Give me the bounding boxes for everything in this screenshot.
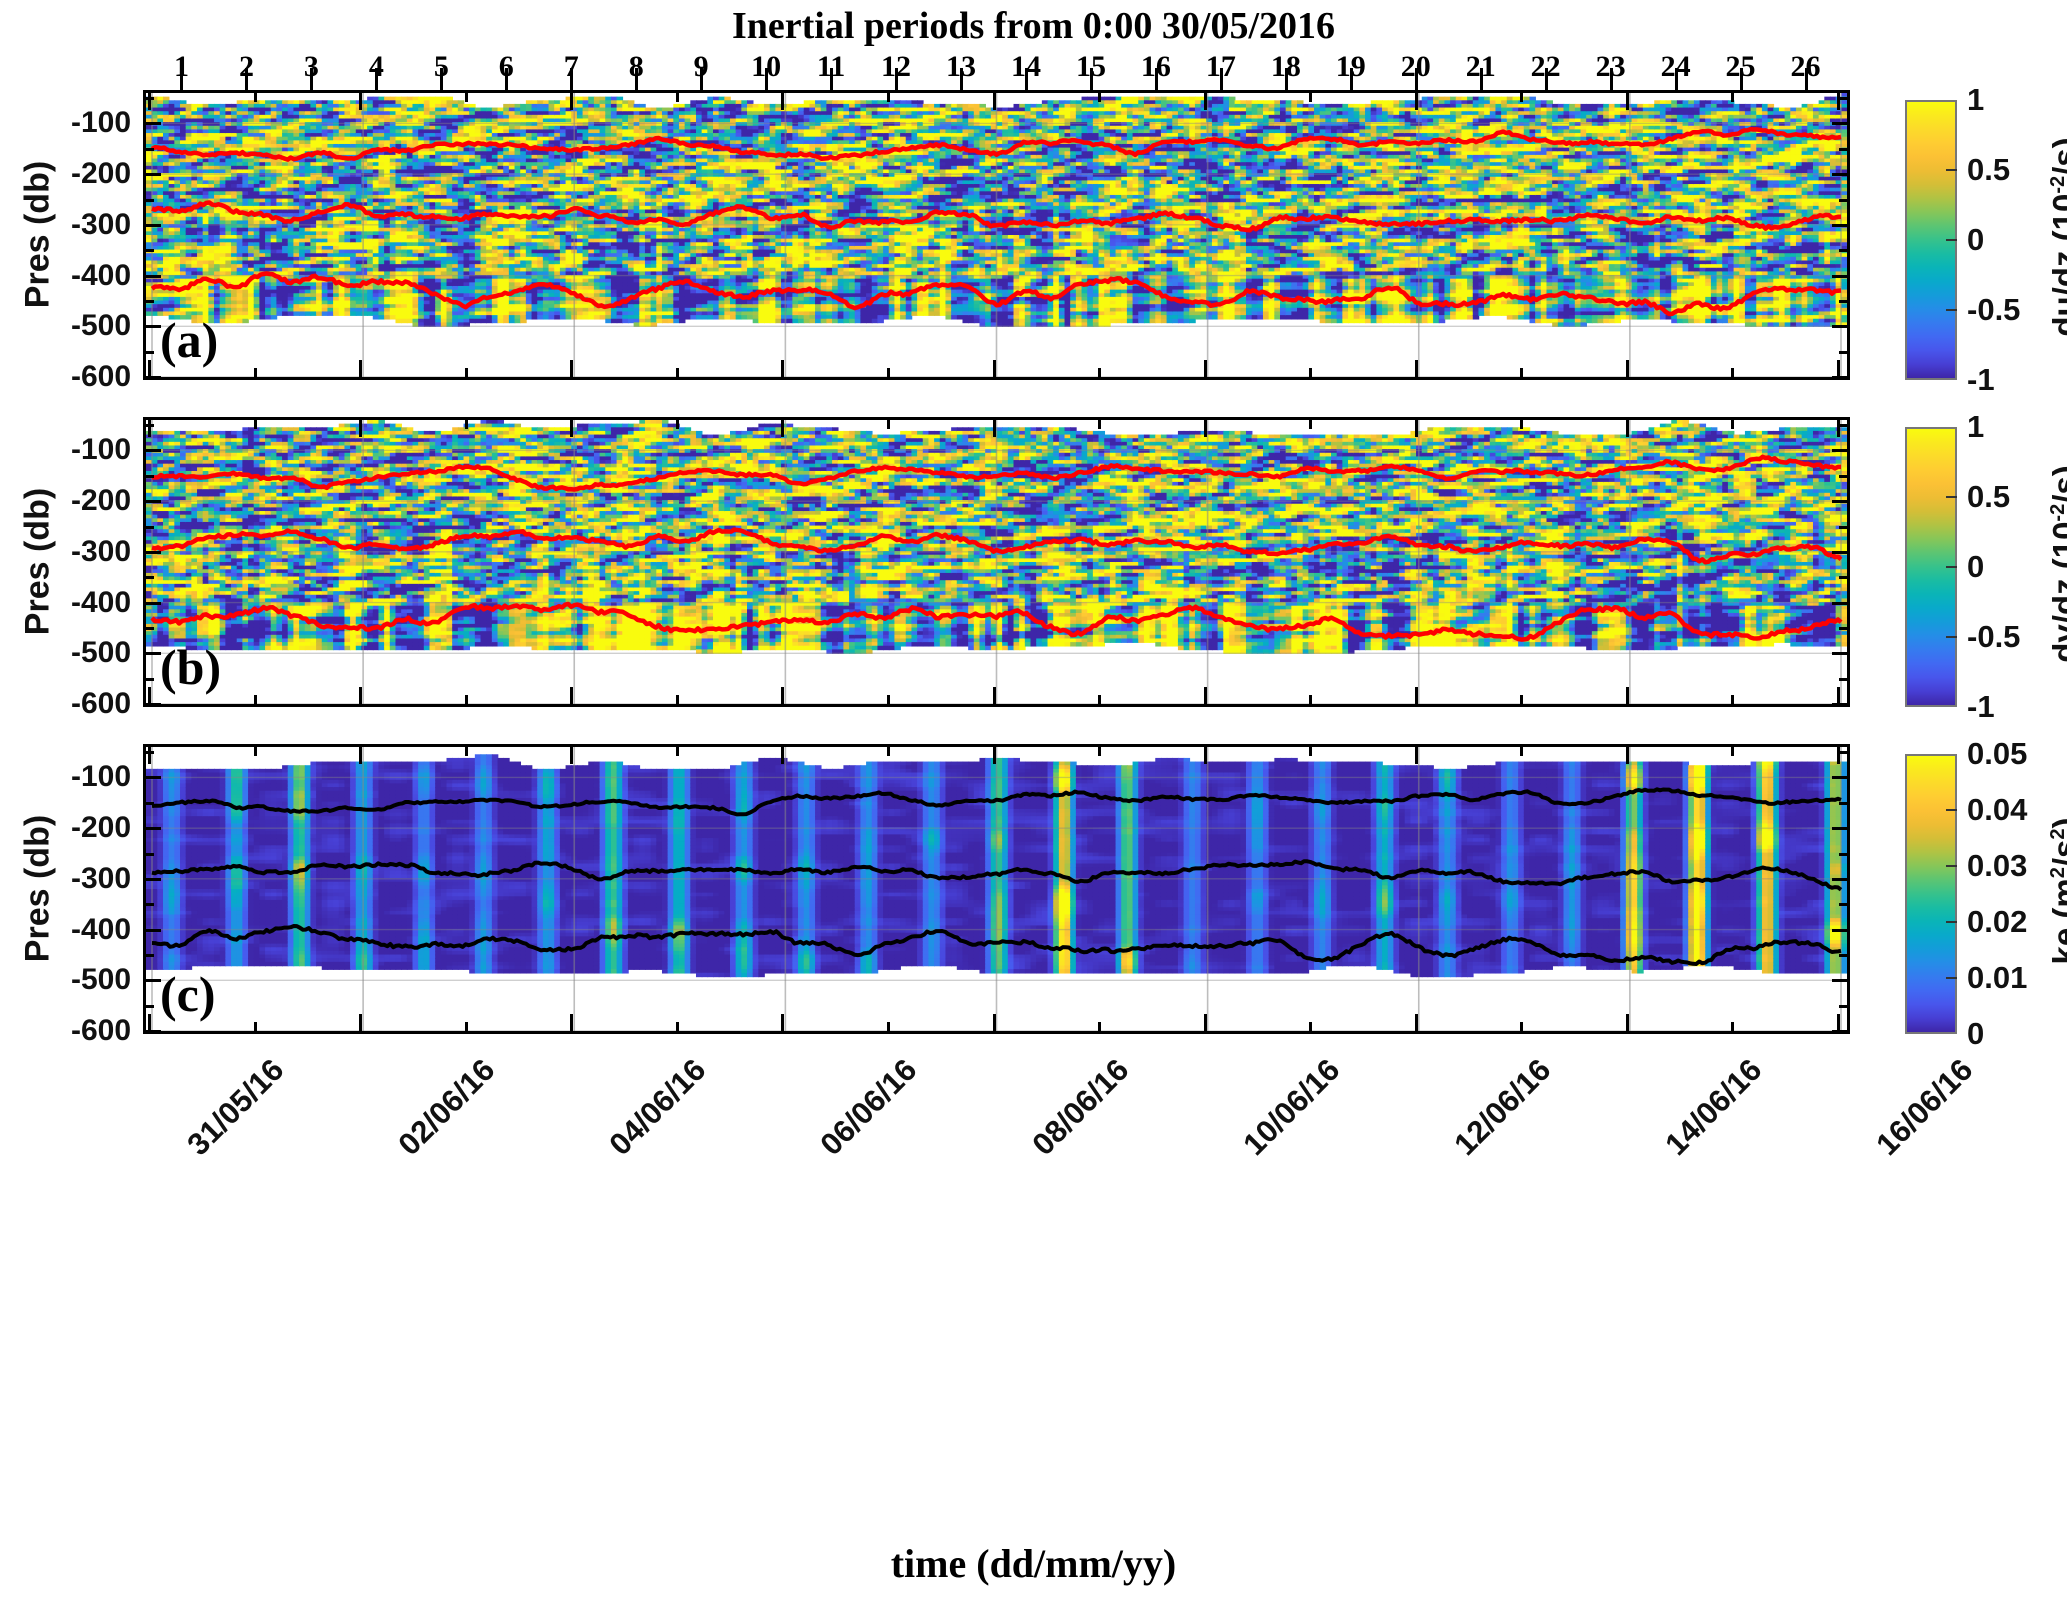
- top-axis-tickmark-22: [1545, 68, 1548, 90]
- top-axis-tickmark-25: [1740, 68, 1743, 90]
- panel-a-xtickmark-bottom-6: [1415, 360, 1418, 380]
- panel-a-ytickmark-r-500: [1832, 325, 1850, 328]
- top-axis-tickmark-13: [960, 68, 963, 90]
- panel-c-xtickmark-top-6: [1415, 744, 1418, 764]
- panel-b-y-axis-title: Pres (db): [19, 417, 58, 707]
- top-axis-tickmark-24: [1675, 68, 1678, 90]
- panel-c-xtickmark-top-5: [1204, 744, 1207, 764]
- panel-a-xminortick-top-0: [254, 90, 257, 102]
- colorbar-0-tickmark-3: [1946, 309, 1957, 311]
- panel-b-xtickmark-bottom-8: [1837, 687, 1840, 707]
- panel-c-xminortick-bottom-3: [887, 1022, 890, 1034]
- panel-c-ytickmark-l-500: [143, 979, 161, 982]
- panel-b-xminortick-top-2: [676, 417, 679, 429]
- panel-a-letter: (a): [160, 311, 218, 369]
- panel-a-yminortick-r: [1839, 300, 1850, 303]
- panel-c-ytickmark-l-300: [143, 878, 161, 881]
- panel-c-yminortick-l: [143, 1005, 154, 1008]
- panel-c-yminortick-l: [143, 903, 154, 906]
- top-axis-tickmark-3: [310, 68, 313, 90]
- panel-a-ytick-label-100: -100: [71, 106, 131, 140]
- colorbar-2-tick-label-3: 0.02: [1967, 904, 2027, 940]
- top-axis-tickmark-2: [245, 68, 248, 90]
- colorbar-0-tickmark-1: [1946, 169, 1957, 171]
- panel-a-xtickmark-bottom-4: [993, 360, 996, 380]
- panel-b-xtickmark-top-4: [993, 417, 996, 437]
- panel-a-xminortick-bottom-0: [254, 368, 257, 380]
- panel-a-ytick-label-400: -400: [71, 259, 131, 293]
- panel-a-ytickmark-l-600: [143, 376, 161, 379]
- top-axis-tickmark-23: [1610, 68, 1613, 90]
- colorbar-2-tickmark-1: [1946, 809, 1957, 811]
- panel-b-xminortick-top-7: [1731, 417, 1734, 429]
- colorbar-0-tick-label-4: -1: [1967, 362, 1995, 398]
- panel-b-yminortick-r: [1839, 475, 1850, 478]
- panel-b-ytickmark-l-300: [143, 551, 161, 554]
- panel-c-xtickmark-top-0: [148, 744, 151, 764]
- panel-c-xminortick-bottom-4: [1098, 1022, 1101, 1034]
- panel-b-xminortick-top-6: [1520, 417, 1523, 429]
- colorbar-2-tick-label-5: 0: [1967, 1016, 1984, 1052]
- panel-c-xminortick-top-3: [887, 744, 890, 756]
- panel-c-ytick-label-300: -300: [71, 862, 131, 896]
- panel-a-du-dz: (a): [143, 90, 1850, 380]
- panel-b-xtickmark-bottom-3: [781, 687, 784, 707]
- panel-a-ytick-label-300: -300: [71, 208, 131, 242]
- panel-c-ytick-label-200: -200: [71, 811, 131, 845]
- colorbar-ke: [1905, 754, 1957, 1034]
- colorbar-0-tick-label-1: 0.5: [1967, 152, 2010, 188]
- panel-b-xminortick-top-5: [1309, 417, 1312, 429]
- panel-a-xtickmark-bottom-5: [1204, 360, 1207, 380]
- panel-a-xtickmark-top-5: [1204, 90, 1207, 110]
- panel-a-xtickmark-top-3: [781, 90, 784, 110]
- panel-b-yminortick-l: [143, 627, 154, 630]
- panel-a-ytickmark-l-100: [143, 122, 161, 125]
- panel-a-yminortick-r: [1839, 199, 1850, 202]
- panel-c-ytickmark-r-500: [1832, 979, 1850, 982]
- panel-b-yminortick-r: [1839, 424, 1850, 427]
- panel-b-xtickmark-top-1: [359, 417, 362, 437]
- top-axis-tickmark-26: [1805, 68, 1808, 90]
- panel-b-xminortick-bottom-4: [1098, 695, 1101, 707]
- panel-b-xminortick-bottom-2: [676, 695, 679, 707]
- x-axis-date-label-6: 12/06/16: [1447, 1052, 1558, 1163]
- panel-a-field: [146, 93, 1847, 377]
- panel-b-ytick-label-200: -200: [71, 484, 131, 518]
- panel-c-xtickmark-bottom-4: [993, 1014, 996, 1034]
- cbar-title-exp: 2: [2047, 867, 2067, 878]
- panel-a-ytickmark-r-200: [1832, 173, 1850, 176]
- panel-a-xminortick-bottom-4: [1098, 368, 1101, 380]
- panel-c-ytickmark-r-400: [1832, 929, 1850, 932]
- x-axis-date-label-7: 14/06/16: [1658, 1052, 1769, 1163]
- panel-a-ytickmark-l-500: [143, 325, 161, 328]
- panel-c-xtickmark-top-7: [1626, 744, 1629, 764]
- panel-b-xminortick-bottom-6: [1520, 695, 1523, 707]
- cbar-title-text2: /s): [2046, 137, 2067, 176]
- panel-c-xtickmark-bottom-5: [1204, 1014, 1207, 1034]
- colorbar-2-tick-label-2: 0.03: [1967, 848, 2027, 884]
- colorbar-0-tickmark-2: [1946, 239, 1957, 241]
- panel-b-xtickmark-top-2: [570, 417, 573, 437]
- panel-b-xtickmark-bottom-5: [1204, 687, 1207, 707]
- panel-b-xminortick-bottom-3: [887, 695, 890, 707]
- panel-b-ytickmark-r-100: [1832, 449, 1850, 452]
- colorbar-1-tick-label-3: -0.5: [1967, 619, 2020, 655]
- colorbar-1-tick-label-1: 0.5: [1967, 479, 2010, 515]
- panel-c-ytick-label-500: -500: [71, 963, 131, 997]
- x-axis-date-label-1: 02/06/16: [391, 1052, 502, 1163]
- panel-b-xtickmark-top-5: [1204, 417, 1207, 437]
- panel-b-xtickmark-bottom-7: [1626, 687, 1629, 707]
- panel-a-ytickmark-l-200: [143, 173, 161, 176]
- cbar-title-exp: -2: [2047, 176, 2067, 194]
- panel-b-letter: (b): [160, 638, 221, 696]
- x-axis-date-label-4: 08/06/16: [1025, 1052, 1136, 1163]
- panel-c-ke: (c): [143, 744, 1850, 1034]
- panel-c-xminortick-bottom-0: [254, 1022, 257, 1034]
- colorbar-0-title: du/dz (10-2/s): [2046, 67, 2067, 407]
- top-axis-tickmark-16: [1155, 68, 1158, 90]
- cbar-title-text: du/dz (10: [2046, 194, 2067, 337]
- x-axis-title: time (dd/mm/yy): [0, 1540, 2067, 1587]
- x-axis-date-label-3: 06/06/16: [814, 1052, 925, 1163]
- panel-c-ytickmark-r-100: [1832, 776, 1850, 779]
- cbar-title-text: dv/dz (10: [2046, 522, 2067, 663]
- cbar-title-exp: -2: [2047, 504, 2067, 522]
- panel-c-yminortick-r: [1839, 1005, 1850, 1008]
- panel-b-yminortick-r: [1839, 678, 1850, 681]
- panel-b-yminortick-l: [143, 475, 154, 478]
- panel-a-xtickmark-top-2: [570, 90, 573, 110]
- colorbar-1-tickmark-3: [1946, 636, 1957, 638]
- panel-b-xtickmark-top-7: [1626, 417, 1629, 437]
- cbar-title-text3: ): [2046, 818, 2067, 829]
- panel-a-xtickmark-bottom-7: [1626, 360, 1629, 380]
- panel-b-xtickmark-bottom-0: [148, 687, 151, 707]
- panel-a-xtickmark-top-0: [148, 90, 151, 110]
- panel-a-xminortick-top-5: [1309, 90, 1312, 102]
- panel-c-yminortick-l: [143, 954, 154, 957]
- panel-b-xtickmark-bottom-2: [570, 687, 573, 707]
- panel-b-plot-area: [146, 420, 1847, 704]
- panel-a-yminortick-l: [143, 351, 154, 354]
- panel-b-xtickmark-bottom-1: [359, 687, 362, 707]
- panel-c-xtickmark-top-1: [359, 744, 362, 764]
- panel-c-xminortick-top-7: [1731, 744, 1734, 756]
- panel-c-xtickmark-top-3: [781, 744, 784, 764]
- panel-b-ytickmark-r-300: [1832, 551, 1850, 554]
- panel-b-xminortick-top-3: [887, 417, 890, 429]
- panel-b-xminortick-top-4: [1098, 417, 1101, 429]
- x-axis-date-label-8: 16/06/16: [1869, 1052, 1980, 1163]
- top-axis-tickmark-20: [1415, 68, 1418, 90]
- panel-a-ytickmark-l-300: [143, 224, 161, 227]
- colorbar-1-tickmark-2: [1946, 566, 1957, 568]
- panel-a-xminortick-bottom-1: [465, 368, 468, 380]
- panel-c-ytickmark-r-200: [1832, 827, 1850, 830]
- panel-a-ytickmark-r-400: [1832, 275, 1850, 278]
- panel-b-xtickmark-top-8: [1837, 417, 1840, 437]
- colorbar-1-title: dv/dz (10-2/s): [2046, 394, 2067, 734]
- panel-b-xtickmark-top-3: [781, 417, 784, 437]
- top-axis-tickmark-14: [1025, 68, 1028, 90]
- panel-a-xtickmark-top-1: [359, 90, 362, 110]
- panel-a-xtickmark-top-8: [1837, 90, 1840, 110]
- panel-a-xtickmark-top-7: [1626, 90, 1629, 110]
- top-axis-tickmark-4: [375, 68, 378, 90]
- panel-b-xtickmark-bottom-4: [993, 687, 996, 707]
- colorbar-0-tick-label-3: -0.5: [1967, 292, 2020, 328]
- top-axis-tickmark-21: [1480, 68, 1483, 90]
- panel-b-ytickmark-l-200: [143, 500, 161, 503]
- panel-a-ytickmark-l-400: [143, 275, 161, 278]
- panel-a-xtickmark-bottom-0: [148, 360, 151, 380]
- panel-b-ytickmark-r-600: [1832, 703, 1850, 706]
- panel-c-xtickmark-top-2: [570, 744, 573, 764]
- panel-c-xminortick-bottom-6: [1520, 1022, 1523, 1034]
- top-axis-tickmark-11: [830, 68, 833, 90]
- panel-c-yminortick-r: [1839, 954, 1850, 957]
- panel-c-letter: (c): [160, 965, 216, 1023]
- panel-b-yminortick-l: [143, 678, 154, 681]
- panel-b-field: [146, 420, 1847, 704]
- cbar-title-text: ke (m: [2046, 878, 2067, 964]
- panel-b-yminortick-l: [143, 526, 154, 529]
- panel-a-yminortick-r: [1839, 249, 1850, 252]
- panel-c-yminortick-r: [1839, 903, 1850, 906]
- panel-a-yminortick-l: [143, 148, 154, 151]
- panel-b-ytickmark-r-400: [1832, 602, 1850, 605]
- panel-a-yminortick-r: [1839, 97, 1850, 100]
- panel-b-xminortick-bottom-0: [254, 695, 257, 707]
- panel-b-ytick-label-400: -400: [71, 586, 131, 620]
- panel-b-xtickmark-bottom-6: [1415, 687, 1418, 707]
- cbar-title-exp2: 2: [2047, 829, 2067, 840]
- panel-a-plot-area: [146, 93, 1847, 377]
- panel-c-xtickmark-bottom-1: [359, 1014, 362, 1034]
- panel-c-xtickmark-top-4: [993, 744, 996, 764]
- colorbar-1-tick-label-2: 0: [1967, 549, 1984, 585]
- cbar-title-text2: /s: [2046, 840, 2067, 868]
- panel-a-yminortick-l: [143, 249, 154, 252]
- top-axis-tickmark-19: [1350, 68, 1353, 90]
- panel-b-xtickmark-top-0: [148, 417, 151, 437]
- top-axis-tickmark-15: [1090, 68, 1093, 90]
- panel-c-y-axis-title: Pres (db): [19, 744, 58, 1034]
- panel-a-xtickmark-bottom-8: [1837, 360, 1840, 380]
- panel-a-yminortick-r: [1839, 351, 1850, 354]
- panel-c-xtickmark-bottom-3: [781, 1014, 784, 1034]
- panel-b-ytick-label-500: -500: [71, 636, 131, 670]
- panel-a-xminortick-bottom-3: [887, 368, 890, 380]
- panel-a-xminortick-top-7: [1731, 90, 1734, 102]
- panel-c-xtickmark-bottom-7: [1626, 1014, 1629, 1034]
- top-axis-tickmark-10: [765, 68, 768, 90]
- panel-c-yminortick-r: [1839, 751, 1850, 754]
- panel-b-ytickmark-l-100: [143, 449, 161, 452]
- panel-b-xtickmark-top-6: [1415, 417, 1418, 437]
- panel-a-yminortick-l: [143, 300, 154, 303]
- panel-c-xminortick-bottom-7: [1731, 1022, 1734, 1034]
- colorbar-1-tickmark-1: [1946, 496, 1957, 498]
- colorbar-1-tick-label-4: -1: [1967, 689, 1995, 725]
- panel-b-ytick-label-100: -100: [71, 433, 131, 467]
- panel-a-xtickmark-top-4: [993, 90, 996, 110]
- top-axis-tickmark-8: [635, 68, 638, 90]
- top-axis-tickmark-12: [895, 68, 898, 90]
- panel-c-xminortick-bottom-2: [676, 1022, 679, 1034]
- cbar-title-text2: /s): [2046, 465, 2067, 504]
- panel-c-plot-area: [146, 747, 1847, 1031]
- colorbar-2-title: ke (m2/s2): [2046, 721, 2067, 1061]
- colorbar-2-tick-label-0: 0.05: [1967, 736, 2027, 772]
- panel-c-ytick-label-100: -100: [71, 760, 131, 794]
- colorbar-0-tick-label-0: 1: [1967, 82, 1984, 118]
- panel-a-ytickmark-r-100: [1832, 122, 1850, 125]
- colorbar-0-tick-label-2: 0: [1967, 222, 1984, 258]
- panel-c-xtickmark-bottom-6: [1415, 1014, 1418, 1034]
- panel-b-ytickmark-l-400: [143, 602, 161, 605]
- panel-c-ytickmark-l-600: [143, 1030, 161, 1033]
- panel-c-ytickmark-r-300: [1832, 878, 1850, 881]
- panel-a-y-axis-title: Pres (db): [19, 90, 58, 380]
- panel-c-yminortick-r: [1839, 853, 1850, 856]
- panel-c-ytickmark-l-200: [143, 827, 161, 830]
- panel-c-ytickmark-l-100: [143, 776, 161, 779]
- top-axis-tickmark-7: [570, 68, 573, 90]
- x-axis-date-label-5: 10/06/16: [1236, 1052, 1347, 1163]
- top-axis-tickmark-9: [700, 68, 703, 90]
- panel-c-ytick-label-600: -600: [71, 1014, 131, 1048]
- panel-c-xminortick-top-1: [465, 744, 468, 756]
- panel-c-yminortick-r: [1839, 802, 1850, 805]
- top-axis-tickmark-6: [505, 68, 508, 90]
- panel-b-xminortick-bottom-5: [1309, 695, 1312, 707]
- top-axis-tickmark-18: [1285, 68, 1288, 90]
- panel-b-ytickmark-l-500: [143, 652, 161, 655]
- panel-a-xtickmark-top-6: [1415, 90, 1418, 110]
- top-axis-tickmark-17: [1220, 68, 1223, 90]
- panel-c-yminortick-l: [143, 853, 154, 856]
- top-axis-tickmark-1: [180, 68, 183, 90]
- panel-b-xminortick-top-1: [465, 417, 468, 429]
- colorbar-2-tick-label-4: 0.01: [1967, 960, 2027, 996]
- panel-c-xtickmark-bottom-2: [570, 1014, 573, 1034]
- panel-a-xminortick-bottom-6: [1520, 368, 1523, 380]
- panel-a-xtickmark-bottom-1: [359, 360, 362, 380]
- colorbar-2-tickmark-4: [1946, 977, 1957, 979]
- panel-c-yminortick-l: [143, 802, 154, 805]
- panel-a-yminortick-l: [143, 199, 154, 202]
- panel-a-yminortick-r: [1839, 148, 1850, 151]
- colorbar-2-tickmark-2: [1946, 865, 1957, 867]
- colorbar-2-tick-label-1: 0.04: [1967, 792, 2027, 828]
- x-axis-date-label-0: 31/05/16: [180, 1052, 291, 1163]
- panel-b-yminortick-r: [1839, 576, 1850, 579]
- panel-a-ytick-label-500: -500: [71, 309, 131, 343]
- panel-a-xminortick-bottom-5: [1309, 368, 1312, 380]
- panel-a-xminortick-top-2: [676, 90, 679, 102]
- panel-a-ytickmark-r-600: [1832, 376, 1850, 379]
- panel-b-ytick-label-600: -600: [71, 687, 131, 721]
- panel-b-yminortick-l: [143, 576, 154, 579]
- panel-c-ytickmark-l-400: [143, 929, 161, 932]
- panel-c-xminortick-top-6: [1520, 744, 1523, 756]
- panel-a-xminortick-bottom-2: [676, 368, 679, 380]
- panel-a-xminortick-top-6: [1520, 90, 1523, 102]
- panel-b-yminortick-r: [1839, 627, 1850, 630]
- panel-a-ytick-label-200: -200: [71, 157, 131, 191]
- panel-c-xtickmark-bottom-0: [148, 1014, 151, 1034]
- panel-a-xminortick-bottom-7: [1731, 368, 1734, 380]
- panel-a-xminortick-top-1: [465, 90, 468, 102]
- panel-c-xtickmark-bottom-8: [1837, 1014, 1840, 1034]
- panel-b-ytick-label-300: -300: [71, 535, 131, 569]
- panel-c-field: [146, 747, 1847, 1031]
- x-axis-date-label-2: 04/06/16: [603, 1052, 714, 1163]
- colorbar-2-tickmark-3: [1946, 921, 1957, 923]
- panel-b-dv-dz: (b): [143, 417, 1850, 707]
- panel-a-xminortick-top-4: [1098, 90, 1101, 102]
- panel-b-xminortick-bottom-1: [465, 695, 468, 707]
- panel-b-xminortick-bottom-7: [1731, 695, 1734, 707]
- panel-b-yminortick-r: [1839, 526, 1850, 529]
- panel-a-ytick-label-600: -600: [71, 360, 131, 394]
- panel-b-ytickmark-r-200: [1832, 500, 1850, 503]
- panel-a-xtickmark-bottom-2: [570, 360, 573, 380]
- panel-c-xtickmark-top-8: [1837, 744, 1840, 764]
- panel-c-xminortick-bottom-1: [465, 1022, 468, 1034]
- panel-a-ytickmark-r-300: [1832, 224, 1850, 227]
- panel-b-xminortick-top-0: [254, 417, 257, 429]
- panel-b-ytickmark-r-500: [1832, 652, 1850, 655]
- panel-c-xminortick-top-2: [676, 744, 679, 756]
- panel-a-xminortick-top-3: [887, 90, 890, 102]
- panel-c-ytickmark-r-600: [1832, 1030, 1850, 1033]
- panel-c-xminortick-top-0: [254, 744, 257, 756]
- panel-b-ytickmark-l-600: [143, 703, 161, 706]
- figure-title: Inertial periods from 0:00 30/05/2016: [0, 4, 2067, 48]
- top-axis-tickmark-5: [440, 68, 443, 90]
- panel-a-xtickmark-bottom-3: [781, 360, 784, 380]
- panel-c-xminortick-bottom-5: [1309, 1022, 1312, 1034]
- panel-c-ytick-label-400: -400: [71, 913, 131, 947]
- panel-c-xminortick-top-5: [1309, 744, 1312, 756]
- colorbar-1-tick-label-0: 1: [1967, 409, 1984, 445]
- panel-c-xminortick-top-4: [1098, 744, 1101, 756]
